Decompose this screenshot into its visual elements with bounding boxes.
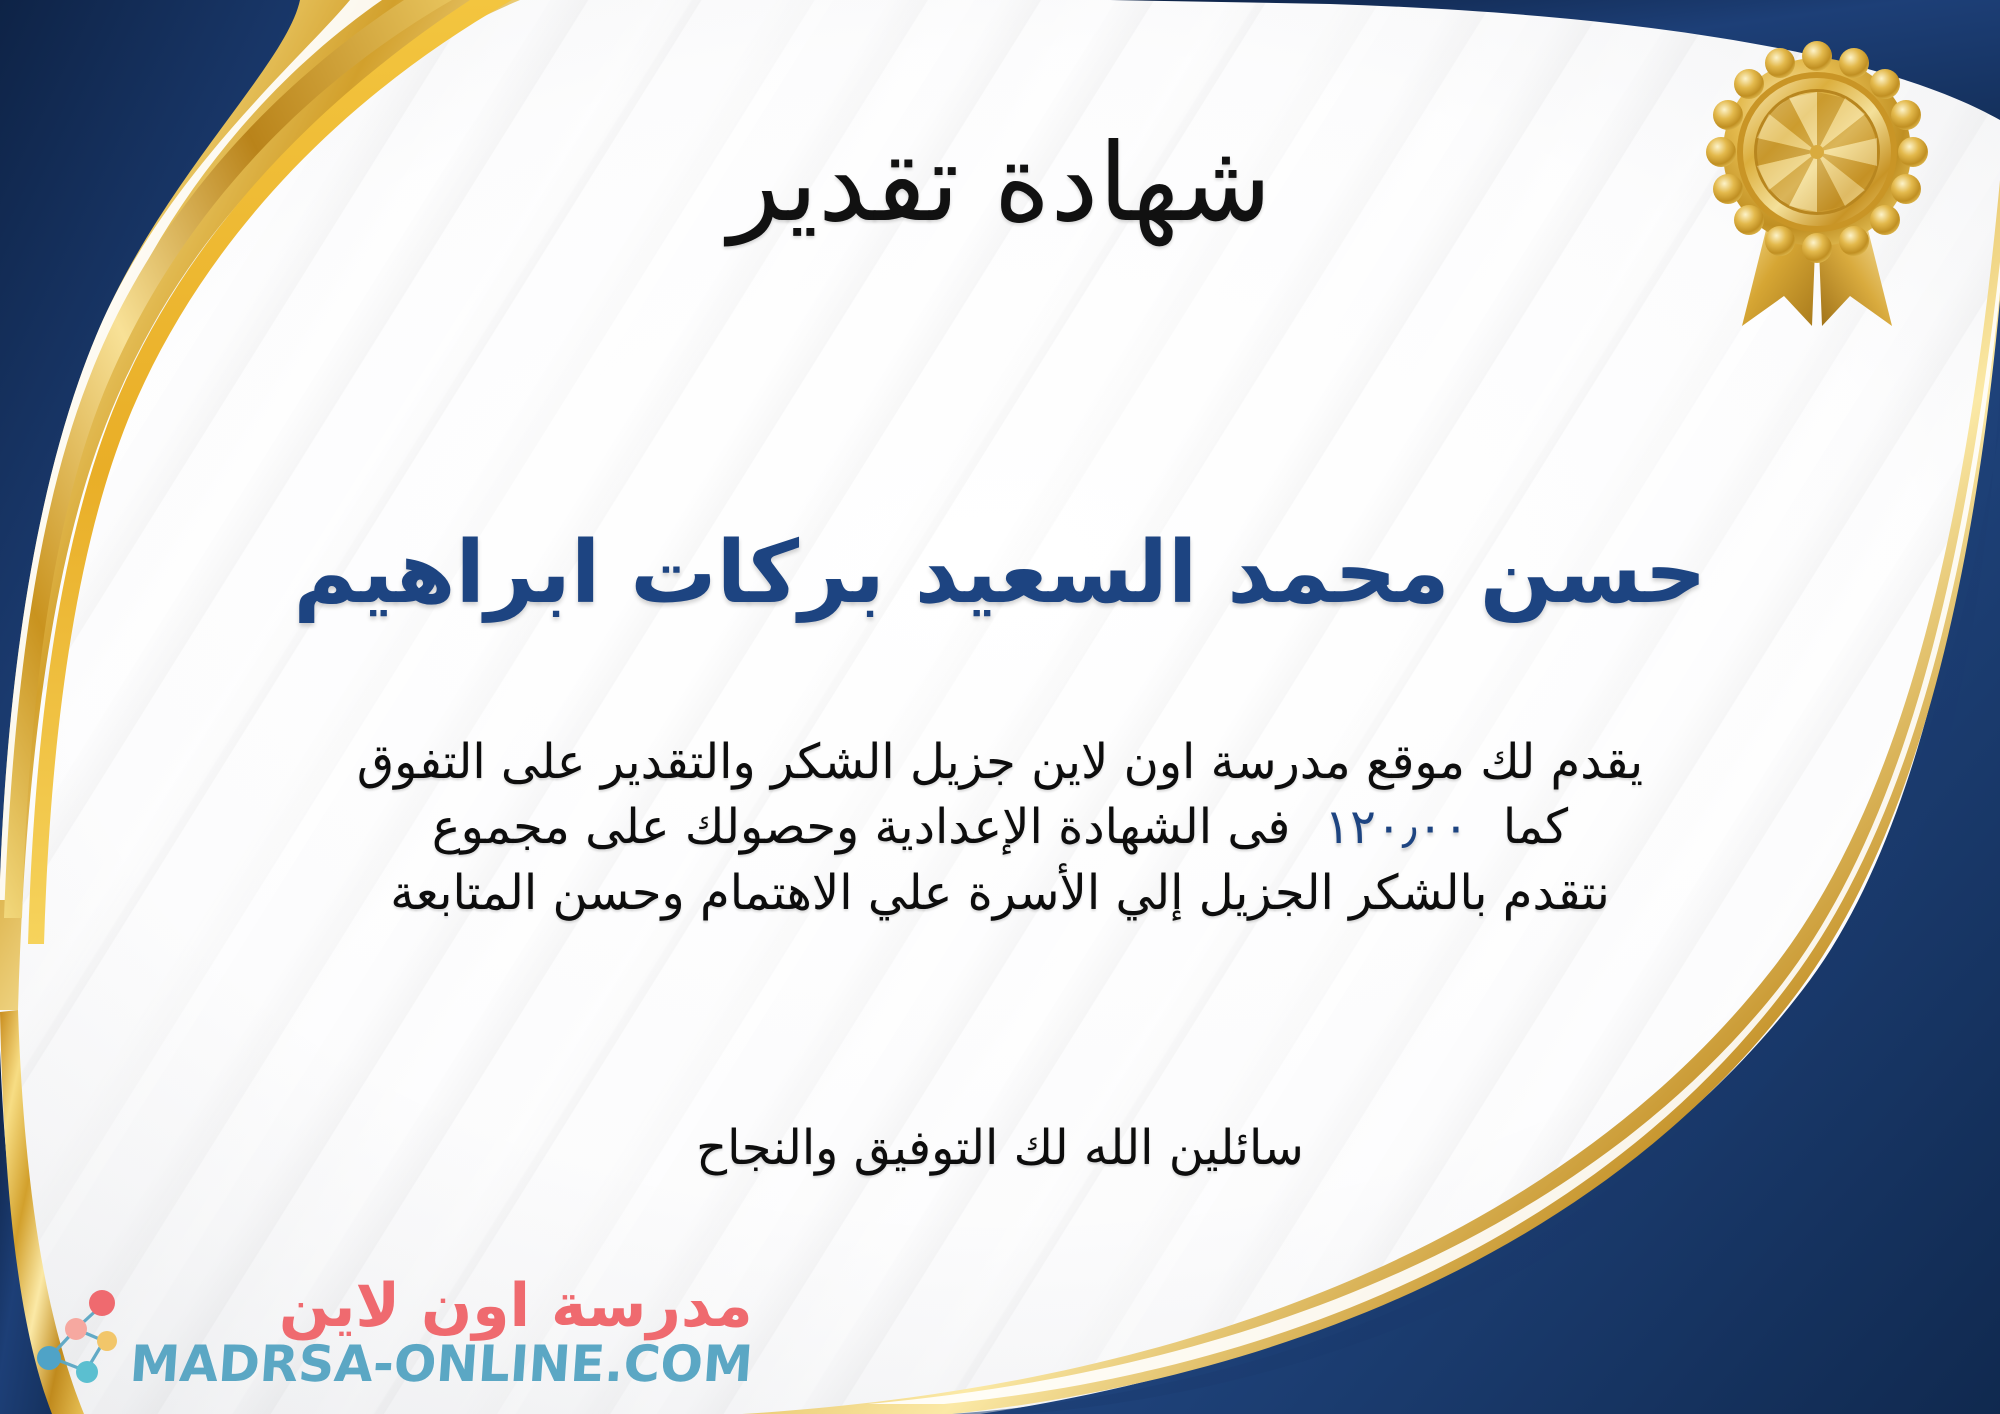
brand-text-block: مدرسة اون لاين MADRSA-ONLINE.COM [130, 1276, 753, 1390]
certificate-body: يقدم لك موقع مدرسة اون لاين جزيل الشكر و… [55, 730, 1945, 926]
score-value: ١٢٠٫٠٠ [1290, 795, 1503, 860]
body-line-2-left-text: كما [1503, 795, 1568, 860]
certificate-content: شهادة تقدير حسن محمد السعيد بركات ابراهي… [0, 0, 2000, 1414]
certificate-title: شهادة تقدير [0, 130, 2000, 238]
brand-logo[interactable]: مدرسة اون لاين MADRSA-ONLINE.COM [28, 1276, 753, 1390]
brand-website[interactable]: MADRSA-ONLINE.COM [128, 1338, 754, 1391]
brand-arabic-name: مدرسة اون لاين [279, 1276, 753, 1337]
recipient-name: حسن محمد السعيد بركات ابراهيم [120, 525, 1880, 621]
body-line-2-right-text: فى الشهادة الإعدادية وحصولك على مجموع [432, 795, 1290, 860]
body-line-3: نتقدم بالشكر الجزيل إلي الأسرة علي الاهت… [55, 861, 1945, 926]
closing-line: سائلين الله لك التوفيق والنجاح [0, 1120, 2000, 1176]
certificate-canvas: شهادة تقدير حسن محمد السعيد بركات ابراهي… [0, 0, 2000, 1414]
network-nodes-icon [28, 1279, 120, 1387]
body-line-1: يقدم لك موقع مدرسة اون لاين جزيل الشكر و… [55, 730, 1945, 795]
body-line-2: كما ١٢٠٫٠٠ فى الشهادة الإعدادية وحصولك ع… [55, 795, 1945, 860]
